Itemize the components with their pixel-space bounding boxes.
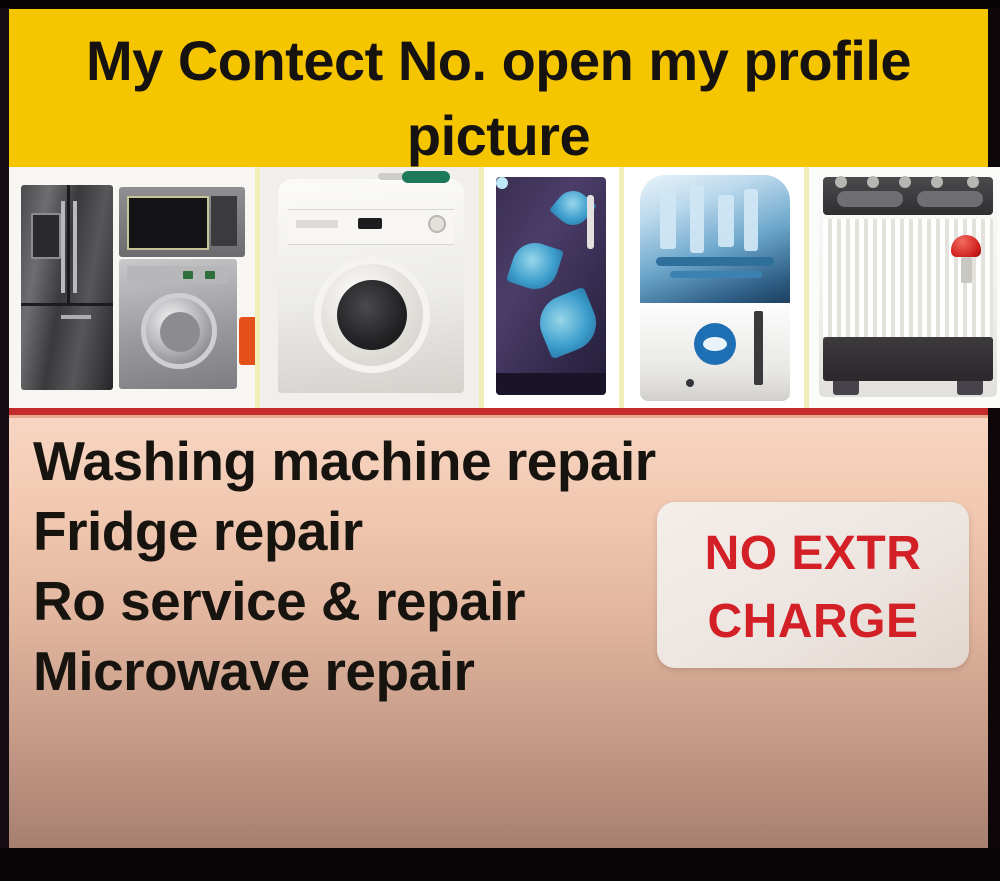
headline-line-2: picture [9,105,988,167]
appliance-repair-advertisement-poster: My Contect No. open my profile picture [0,0,1000,881]
services-panel: Washing machine repair Fridge repair Ro … [9,418,988,848]
badge-line-2: CHARGE [657,596,969,648]
ro-purifier-icon [640,175,790,401]
orange-object [239,317,255,365]
no-extra-charge-badge: NO EXTR CHARGE [657,502,969,668]
black-refrigerator-icon [21,185,113,390]
twin-tub-washing-machine-icon [819,173,997,397]
frame-border-left [0,8,9,850]
purple-floral-fridge-icon [496,177,606,395]
white-washing-machine-icon [278,179,464,393]
headline-line-1: My Contect No. open my profile [9,30,988,92]
badge-line-1: NO EXTR [657,528,969,580]
service-item: Ro service & repair [33,572,525,630]
red-divider-line [9,408,988,415]
frame-border-bottom [0,848,1000,881]
microwave-oven-icon [119,187,245,257]
photo-semi-automatic-washer [804,167,1000,408]
photo-white-front-load-washer [255,167,479,408]
headline-banner: My Contect No. open my profile picture [9,9,988,167]
top-object-green [402,171,450,183]
service-item: Fridge repair [33,502,363,560]
photo-fridge-microwave-washer [9,167,255,408]
photo-floral-refrigerator [479,167,619,408]
photo-ro-water-purifier [619,167,804,408]
service-item: Washing machine repair [33,432,656,490]
grey-washing-machine-icon [119,259,237,389]
appliance-photo-strip [9,167,988,408]
service-item: Microwave repair [33,642,474,700]
frame-border-right [988,8,1000,850]
